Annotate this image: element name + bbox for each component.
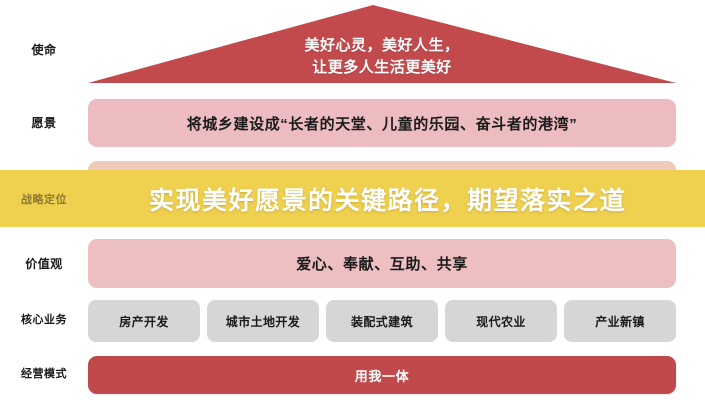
row-label-mission: 使命	[0, 44, 88, 56]
headline-banner: 战略定位 实现美好愿景的关键路径，期望落实之道	[0, 170, 705, 227]
values-bar: 爱心、奉献、互助、共享	[88, 239, 676, 288]
row-label-operating-model: 经营模式	[0, 369, 88, 380]
core-business-row: 房产开发 城市土地开发 装配式建筑 现代农业 产业新镇	[88, 300, 676, 342]
roof-triangle-icon	[88, 5, 676, 91]
strategy-house-diagram: 使命 愿景 价值观 核心业务 经营模式 美好心灵，美好人生， 让更多人生活更美好…	[0, 0, 705, 400]
mission-roof-shape: 美好心灵，美好人生， 让更多人生活更美好	[88, 5, 676, 91]
row-label-values: 价值观	[0, 258, 88, 270]
operating-model-bar: 用我一体	[88, 356, 676, 394]
vision-bar: 将城乡建设成“长者的天堂、儿童的乐园、奋斗者的港湾”	[88, 99, 676, 147]
core-business-item[interactable]: 装配式建筑	[326, 300, 438, 342]
core-business-item[interactable]: 产业新镇	[564, 300, 676, 342]
banner-row-label: 战略定位	[0, 191, 88, 207]
core-business-item[interactable]: 现代农业	[445, 300, 557, 342]
row-label-core-business: 核心业务	[0, 315, 88, 326]
core-business-item[interactable]: 房产开发	[88, 300, 200, 342]
core-business-item[interactable]: 城市土地开发	[207, 300, 319, 342]
banner-headline: 实现美好愿景的关键路径，期望落实之道	[88, 181, 705, 217]
row-label-vision: 愿景	[0, 117, 88, 129]
